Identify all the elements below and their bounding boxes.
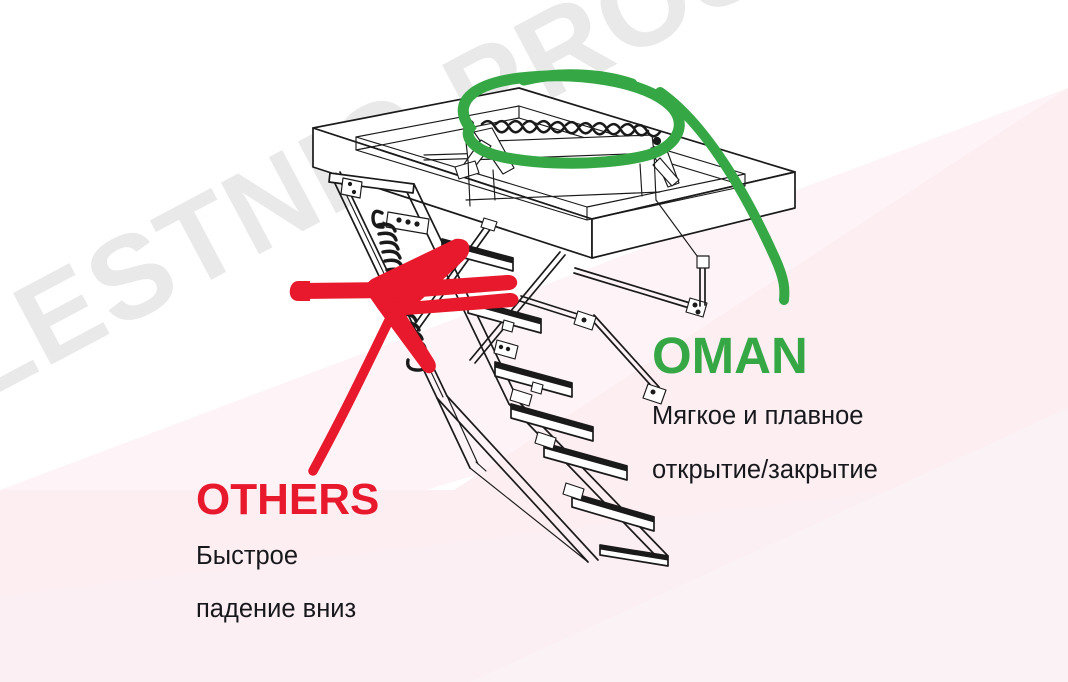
ladder-step <box>442 239 513 271</box>
comparison-infographic: LESTNIC-PROSTO.RU .ln{fill:none;stroke:#… <box>0 0 1068 682</box>
ladder-step <box>468 299 541 333</box>
callout-others-subtitle-line1: Быстрое <box>196 538 379 575</box>
pink-soft-strip <box>0 470 1068 682</box>
background-decoration <box>0 0 1068 682</box>
red-arrow-marker <box>290 239 519 471</box>
site-watermark: LESTNIC-PROSTO.RU <box>0 0 1068 428</box>
gas-damper-spring-mechanism <box>455 120 679 206</box>
coil-spring <box>373 211 429 370</box>
callout-oman: OMAN Мягкое и плавное открытие/закрытие <box>652 330 878 490</box>
green-highlight-marker <box>463 75 784 300</box>
callout-others-headline: OTHERS <box>196 478 379 522</box>
callout-others: OTHERS Быстрое падение вниз <box>196 478 379 629</box>
ladder-step <box>572 493 654 531</box>
ladder-step <box>544 443 627 480</box>
ladder-step <box>600 545 668 566</box>
callout-oman-subtitle-line2: открытие/закрытие <box>652 452 878 489</box>
pink-wedge-left <box>0 88 1068 616</box>
ladder-step <box>511 404 593 441</box>
callout-oman-headline: OMAN <box>652 330 878 381</box>
callout-others-subtitle-line2: падение вниз <box>196 591 379 628</box>
white-notch-top-left <box>0 0 1068 488</box>
callout-oman-subtitle-line1: Мягкое и плавное <box>652 398 878 435</box>
ladder-step <box>495 362 572 397</box>
ceiling-hatch-box <box>313 88 795 258</box>
attic-ladder-illustration: .ln{fill:none;stroke:#1a1a1a;stroke-widt… <box>0 0 1068 682</box>
